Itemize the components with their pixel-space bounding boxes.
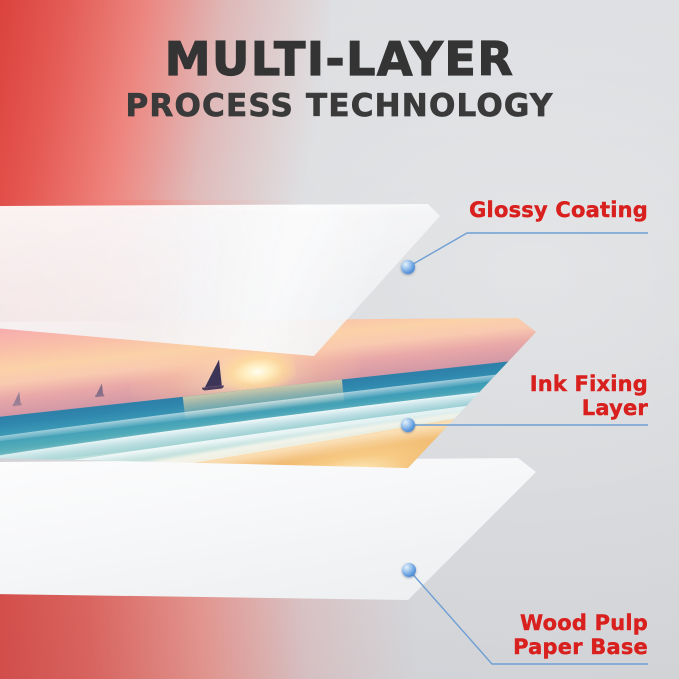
sailboat-medium-icon (95, 383, 104, 397)
callout-line-1: Ink Fixing (530, 373, 648, 397)
sail (202, 359, 222, 387)
infographic-canvas: MULTI-LAYER PROCESS TECHNOLOGY (0, 0, 679, 679)
callout-line-1: Glossy Coating (469, 199, 648, 223)
callout-dot-wood-pulp-paper-base[interactable] (402, 563, 416, 577)
page-subtitle: PROCESS TECHNOLOGY (0, 90, 679, 123)
sailboat-small-icon (12, 391, 21, 406)
callout-line-1: Wood Pulp (513, 612, 648, 636)
callout-label-wood-pulp-paper-base[interactable]: Wood Pulp Paper Base (513, 612, 648, 659)
page-title: MULTI-LAYER (0, 36, 679, 84)
sailboat-large-icon (202, 359, 224, 390)
heading-block: MULTI-LAYER PROCESS TECHNOLOGY (0, 36, 679, 122)
sail (95, 384, 103, 396)
callout-dot-ink-fixing-layer[interactable] (401, 418, 415, 432)
callout-dot-glossy-coating[interactable] (401, 260, 415, 274)
callout-line-2: Layer (530, 397, 648, 421)
callout-line-2: Paper Base (513, 636, 648, 660)
callout-label-ink-fixing-layer[interactable]: Ink Fixing Layer (530, 373, 648, 420)
sail (12, 391, 20, 404)
callout-label-glossy-coating[interactable]: Glossy Coating (469, 199, 648, 223)
